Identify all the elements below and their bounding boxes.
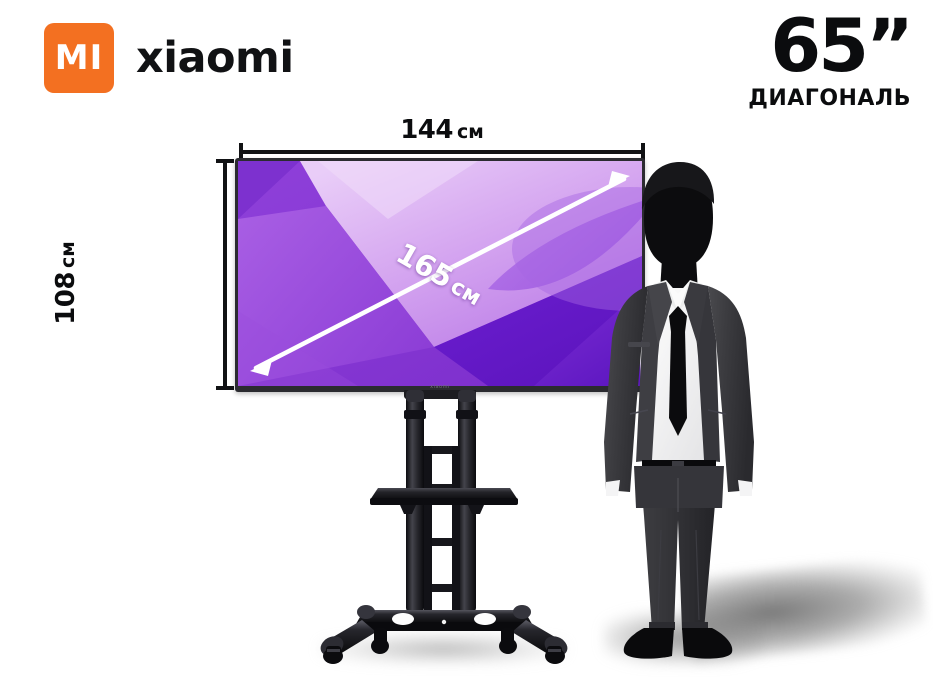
diagonal-arrow-icon [238,161,642,386]
mi-logo-text: MI [44,23,114,93]
height-dimension-cap-top [216,159,234,163]
xiaomi-mi-logo-icon: MI [44,23,114,93]
television: 165см xiaomi [235,158,645,392]
xiaomi-wordmark: xiaomi [136,33,294,83]
diagonal-callout: 65” ДИАГОНАЛЬ [748,14,911,111]
person-figure [586,160,770,675]
diagonal-inches: 65” [748,14,911,80]
height-dimension-label: 108см [51,168,81,398]
cart-frame [318,388,570,660]
person-silhouette [586,160,770,675]
height-value: 108 [51,272,81,325]
width-dimension-line [240,150,644,154]
tv-screen: 165см [238,161,642,386]
height-dimension-line [223,160,227,390]
width-dimension-label: 144см [240,115,644,145]
brand-block: MI xiaomi [44,23,294,93]
height-unit: см [57,241,79,268]
product-scene: MI xiaomi 65” ДИАГОНАЛЬ 144см 108см [0,0,933,700]
diagonal-caption: ДИАГОНАЛЬ [748,86,911,111]
width-unit: см [457,121,484,143]
height-dimension-cap-bottom [216,386,234,390]
tv-floor-cart [318,388,570,660]
width-value: 144 [400,115,453,145]
